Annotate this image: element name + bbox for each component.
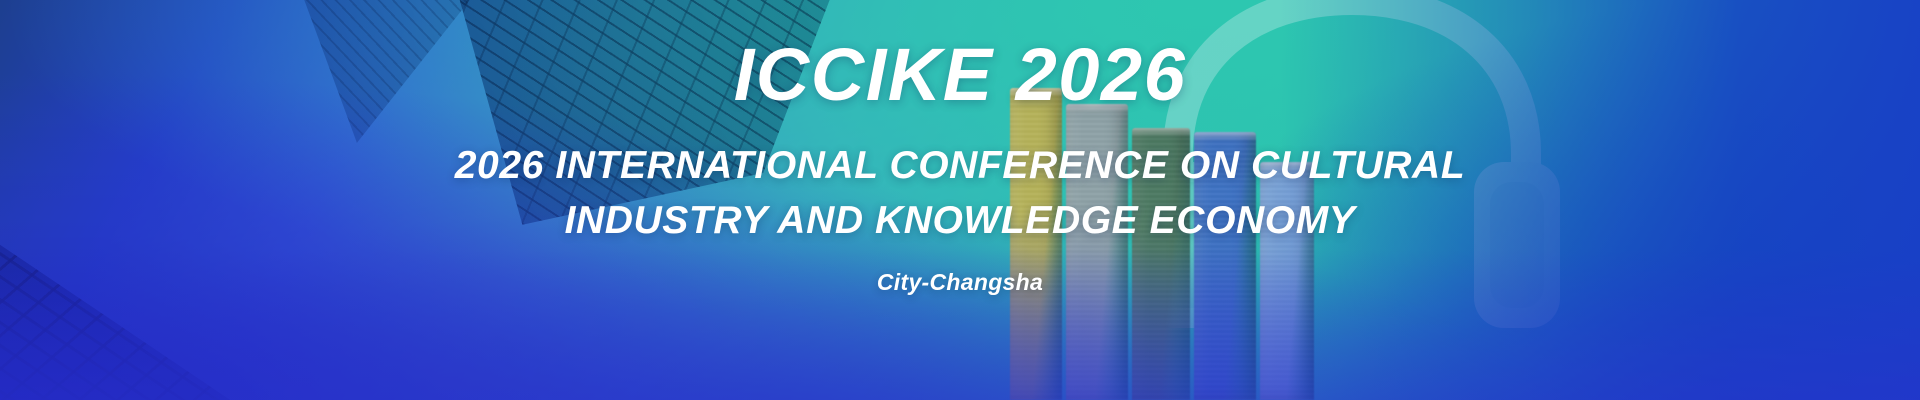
conference-acronym-title: ICCIKE 2026 (734, 38, 1186, 112)
conference-full-name-line2: INDUSTRY AND KNOWLEDGE ECONOMY (455, 193, 1466, 248)
conference-banner: ICCIKE 2026 2026 INTERNATIONAL CONFERENC… (0, 0, 1920, 400)
conference-city: City-Changsha (877, 269, 1043, 296)
conference-full-name: 2026 INTERNATIONAL CONFERENCE ON CULTURA… (455, 138, 1466, 249)
banner-text-layer: ICCIKE 2026 2026 INTERNATIONAL CONFERENC… (0, 0, 1920, 400)
conference-full-name-line1: 2026 INTERNATIONAL CONFERENCE ON CULTURA… (455, 138, 1466, 193)
